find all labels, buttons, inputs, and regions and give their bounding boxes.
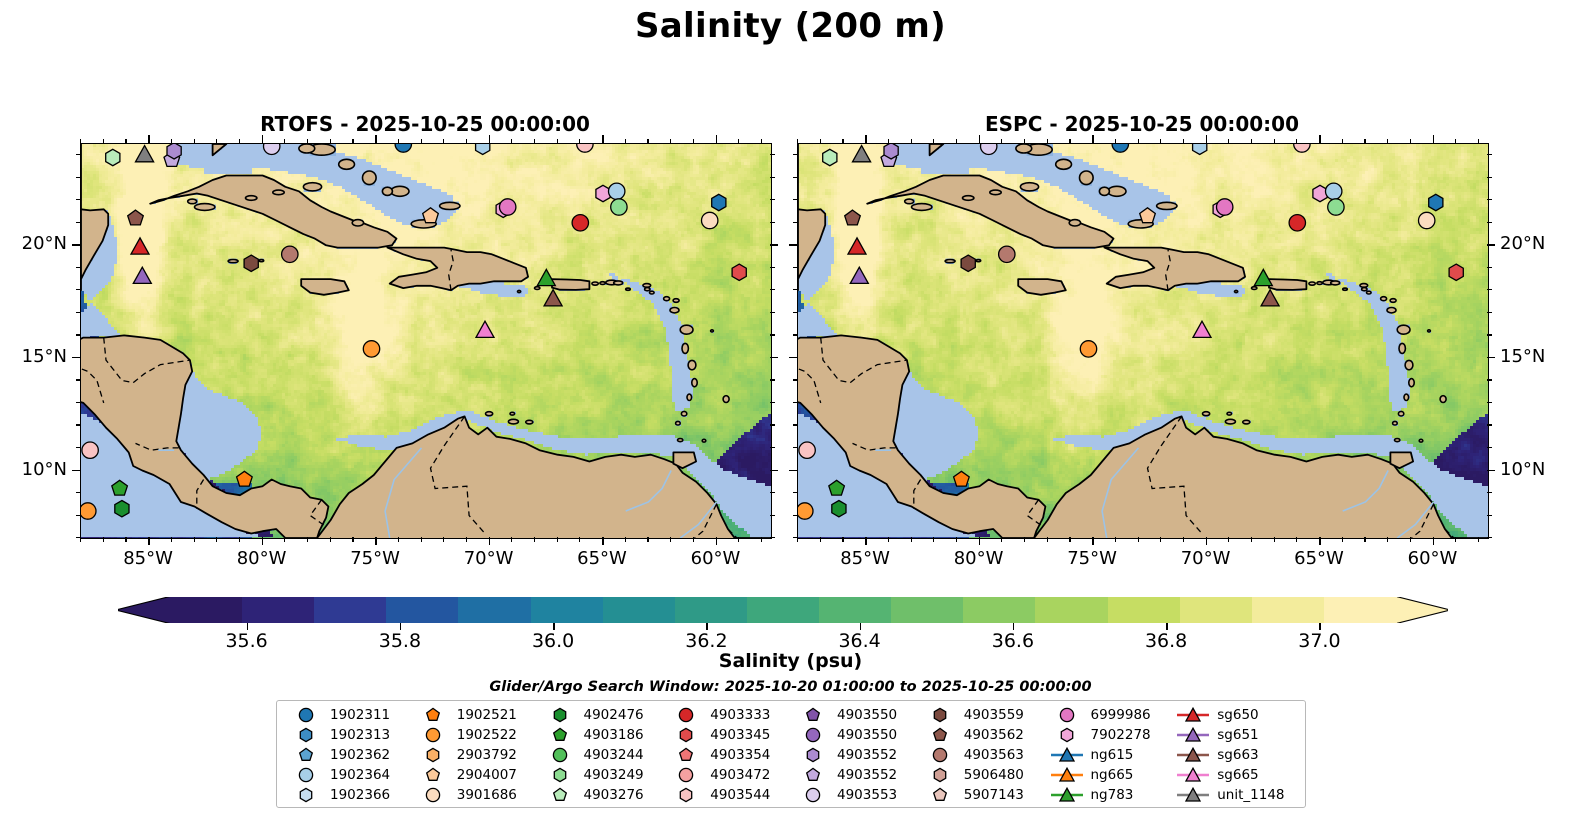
x-tick (1410, 537, 1411, 542)
colorbar-label: Salinity (psu) (0, 650, 1581, 672)
legend-marker-glider (1176, 766, 1210, 784)
y-tick-right (1487, 154, 1492, 155)
legend-item[interactable]: 4903472 (665, 766, 792, 784)
x-tick-top (1138, 139, 1139, 144)
legend-item-label: 4902476 (584, 707, 644, 723)
legend-item[interactable]: 1902364 (285, 766, 412, 784)
y-axis-label-left: 15°N (0, 347, 67, 367)
legend-item[interactable]: 1902521 (412, 706, 539, 724)
legend-item-label: 4903544 (710, 787, 770, 803)
x-tick (670, 537, 671, 542)
legend-marker-argo (543, 706, 577, 724)
x-tick (443, 537, 444, 542)
x-tick (1274, 537, 1275, 542)
legend-item[interactable]: 6999986 (1046, 706, 1173, 724)
colorbar-segment (242, 597, 315, 623)
legend-marker-argo (543, 746, 577, 764)
x-tick-top (216, 139, 217, 144)
legend-item[interactable]: unit_1148 (1172, 786, 1299, 804)
y-tick-right (1487, 492, 1492, 493)
legend-marker-argo (416, 706, 450, 724)
x-tick (194, 537, 195, 542)
x-tick-top (262, 135, 264, 143)
x-tick-top (647, 139, 648, 144)
x-tick-top (820, 139, 821, 144)
legend-marker-argo (543, 726, 577, 744)
legend-item-label: sg665 (1217, 767, 1258, 783)
legend-item[interactable]: 4903345 (665, 726, 792, 744)
legend-marker-argo (543, 786, 577, 804)
figure-canvas: Salinity (200 m) RTOFS - 2025-10-25 00:0… (0, 0, 1581, 829)
legend-item[interactable]: 4903553 (792, 786, 919, 804)
x-tick-top (625, 139, 626, 144)
legend-item[interactable]: sg651 (1172, 726, 1299, 744)
y-tick-right (1487, 334, 1492, 335)
y-tick-right (770, 447, 775, 448)
x-tick-top (693, 139, 694, 144)
legend-marker-argo (289, 746, 323, 764)
x-tick-top (1206, 135, 1208, 143)
y-tick-left (76, 379, 81, 380)
salinity-field-espc (798, 144, 1488, 538)
colorbar-segment (458, 597, 531, 623)
x-tick-top (738, 139, 739, 144)
y-tick-right (1487, 402, 1492, 403)
legend-marker-argo (796, 706, 830, 724)
y-tick-left (76, 447, 81, 448)
legend-marker-argo (923, 706, 957, 724)
y-tick-right (1487, 177, 1492, 178)
legend-item[interactable]: 4903249 (539, 766, 666, 784)
y-tick-left (789, 244, 797, 246)
y-tick-left (72, 244, 80, 246)
colorbar-tick (1319, 623, 1321, 630)
y-tick-right (770, 289, 775, 290)
legend-item[interactable]: 4903550 (792, 726, 919, 744)
y-tick-right (770, 424, 775, 425)
map-panel-espc[interactable] (797, 143, 1489, 539)
x-axis-label: 65°W (557, 548, 647, 569)
x-tick (579, 537, 580, 542)
y-tick-right (1487, 289, 1492, 290)
colorbar-tick (860, 623, 862, 630)
x-tick-top (1251, 139, 1252, 144)
legend-item-label: 1902362 (330, 747, 390, 763)
colorbar-segment (963, 597, 1036, 623)
colorbar-segment (1035, 597, 1108, 623)
colorbar-segment (819, 597, 892, 623)
colorbar-tick (553, 623, 555, 630)
x-tick-top (716, 135, 718, 143)
x-axis-label: 75°W (330, 548, 420, 569)
legend-item-label: sg663 (1217, 747, 1258, 763)
y-tick-right (1487, 515, 1492, 516)
legend-item[interactable]: ng665 (1046, 766, 1173, 784)
legend-item[interactable]: 4903552 (792, 746, 919, 764)
y-tick-left (76, 289, 81, 290)
legend-marker-argo (289, 706, 323, 724)
x-tick-top (1274, 139, 1275, 144)
y-tick-left (793, 537, 798, 538)
legend-item[interactable]: 4903559 (919, 706, 1046, 724)
x-tick-top (1001, 139, 1002, 144)
legend-marker-glider (1176, 726, 1210, 744)
x-tick-top (956, 139, 957, 144)
colorbar-segment (1180, 597, 1253, 623)
x-tick (284, 537, 285, 542)
y-tick-left (76, 334, 81, 335)
legend-marker-argo (923, 726, 957, 744)
legend-item[interactable]: 2903792 (412, 746, 539, 764)
y-tick-left (76, 222, 81, 223)
x-tick (489, 537, 491, 545)
colorbar-extend-max (1396, 597, 1448, 623)
x-tick (602, 537, 604, 545)
y-tick-left (793, 424, 798, 425)
x-axis-label: 70°W (444, 548, 534, 569)
legend-item-label: 4903354 (710, 747, 770, 763)
legend-item[interactable]: 1902522 (412, 726, 539, 744)
y-tick-left (76, 177, 81, 178)
legend-item[interactable]: 4903544 (665, 786, 792, 804)
legend-item[interactable]: ng615 (1046, 746, 1173, 764)
x-tick-top (489, 135, 491, 143)
x-tick (80, 537, 81, 542)
colorbar-segment (1324, 597, 1397, 623)
colorbar-tick-label: 36.8 (1121, 630, 1211, 652)
y-tick-right (770, 312, 775, 313)
legend-item-label: 4903563 (964, 747, 1024, 763)
x-tick (534, 537, 535, 542)
colorbar-tick-label: 37.0 (1274, 630, 1364, 652)
colorbar-segment (170, 597, 243, 623)
legend-grid: 1902311190231319023621902364190236619025… (285, 705, 1299, 805)
legend-item[interactable]: 4903552 (792, 766, 919, 784)
x-tick (1206, 537, 1208, 545)
x-tick-top (557, 139, 558, 144)
x-tick-top (307, 139, 308, 144)
map-panel-rtofs[interactable] (80, 143, 772, 539)
x-tick-top (443, 139, 444, 144)
legend-item[interactable]: ng783 (1046, 786, 1173, 804)
legend-marker-argo (669, 746, 703, 764)
legend-item[interactable]: 4903550 (792, 706, 919, 724)
y-axis-label-right: 20°N (1500, 234, 1581, 254)
legend-item-label: 4903550 (837, 727, 897, 743)
y-tick-right (1487, 244, 1495, 246)
legend-item-label: 6999986 (1091, 707, 1151, 723)
x-tick (307, 537, 308, 542)
y-tick-left (76, 424, 81, 425)
y-tick-left (793, 289, 798, 290)
y-tick-left (76, 492, 81, 493)
x-tick-top (1387, 139, 1388, 144)
y-tick-right (770, 199, 775, 200)
y-tick-right (770, 267, 775, 268)
y-tick-right (770, 515, 775, 516)
x-tick (716, 537, 718, 545)
y-tick-left (76, 402, 81, 403)
legend-marker-argo (796, 786, 830, 804)
x-tick (171, 537, 172, 542)
y-tick-right (1487, 424, 1492, 425)
legend-item-label: 7902278 (1091, 727, 1151, 743)
colorbar-tick-label: 35.6 (202, 630, 292, 652)
colorbar-segment (603, 597, 676, 623)
page-title: Salinity (200 m) (0, 6, 1581, 46)
legend-item-label: 4903553 (837, 787, 897, 803)
x-tick (1183, 537, 1184, 542)
x-tick-top (284, 139, 285, 144)
legend-item[interactable]: 1902311 (285, 706, 412, 724)
x-tick (1387, 537, 1388, 542)
legend-item-label: ng665 (1091, 767, 1134, 783)
legend-item[interactable]: 1902313 (285, 726, 412, 744)
y-tick-left (793, 334, 798, 335)
y-tick-right (770, 492, 775, 493)
colorbar-segment (1252, 597, 1325, 623)
x-tick (239, 537, 240, 542)
y-axis-label-left: 20°N (0, 234, 67, 254)
x-tick (1455, 537, 1456, 542)
x-tick-top (352, 139, 353, 144)
legend-item-label: 4903552 (837, 747, 897, 763)
y-tick-left (793, 312, 798, 313)
legend-item-label: 4903333 (710, 707, 770, 723)
legend-item-label: sg651 (1217, 727, 1258, 743)
y-axis-label-left: 10°N (0, 460, 67, 480)
x-tick-top (398, 139, 399, 144)
legend-marker-glider (1050, 746, 1084, 764)
y-tick-right (770, 470, 778, 472)
legend-item-label: 5907143 (964, 787, 1024, 803)
x-tick (330, 537, 331, 542)
legend-marker-argo (796, 746, 830, 764)
y-tick-right (1487, 267, 1492, 268)
x-tick (1047, 537, 1048, 542)
y-tick-right (770, 222, 775, 223)
x-tick-top (421, 139, 422, 144)
y-tick-left (789, 357, 797, 359)
legend-item-label: 1902366 (330, 787, 390, 803)
x-tick-top (911, 139, 912, 144)
colorbar-tick (1166, 623, 1168, 630)
y-tick-left (72, 470, 80, 472)
salinity-field-rtofs (81, 144, 771, 538)
legend-item-label: 1902521 (457, 707, 517, 723)
y-tick-left (793, 492, 798, 493)
x-tick-top (1410, 139, 1411, 144)
y-tick-left (793, 177, 798, 178)
x-tick-top (1069, 139, 1070, 144)
legend-item[interactable]: sg650 (1172, 706, 1299, 724)
x-tick (842, 537, 843, 542)
x-tick (1228, 537, 1229, 542)
legend-item[interactable]: 1902362 (285, 746, 412, 764)
x-tick-top (103, 139, 104, 144)
x-tick (820, 537, 821, 542)
x-tick-top (1478, 139, 1479, 144)
legend-item-label: 4903472 (710, 767, 770, 783)
y-tick-right (1487, 222, 1492, 223)
x-tick-top (1092, 135, 1094, 143)
x-tick (979, 537, 981, 545)
map-canvas-espc (798, 144, 1488, 538)
legend-marker-argo (416, 766, 450, 784)
y-tick-right (770, 537, 775, 538)
x-tick-top (865, 135, 867, 143)
legend-item[interactable]: sg663 (1172, 746, 1299, 764)
legend-marker-argo (796, 766, 830, 784)
x-tick (557, 537, 558, 542)
legend-item[interactable]: 1902366 (285, 786, 412, 804)
legend-marker-argo (669, 706, 703, 724)
y-tick-right (770, 334, 775, 335)
y-tick-right (1487, 357, 1495, 359)
legend-item-label: ng783 (1091, 787, 1134, 803)
x-tick (375, 537, 377, 545)
legend-item[interactable]: 4903354 (665, 746, 792, 764)
colorbar-tick (400, 623, 402, 630)
x-tick (888, 537, 889, 542)
x-tick (466, 537, 467, 542)
y-tick-right (1487, 537, 1492, 538)
x-tick-top (1228, 139, 1229, 144)
colorbar-tick (706, 623, 708, 630)
x-tick (1069, 537, 1070, 542)
legend-search-window-text: Glider/Argo Search Window: 2025-10-20 01… (0, 679, 1581, 695)
legend-marker-glider (1050, 786, 1084, 804)
y-tick-left (793, 222, 798, 223)
x-tick-top (1296, 139, 1297, 144)
x-axis-label: 85°W (820, 548, 910, 569)
legend-item[interactable]: 4902476 (539, 706, 666, 724)
y-tick-right (770, 357, 778, 359)
legend-item[interactable]: 5906480 (919, 766, 1046, 784)
legend-item[interactable]: 4903244 (539, 746, 666, 764)
x-tick-top (125, 139, 126, 144)
legend-marker-glider (1176, 706, 1210, 724)
legend-marker-argo (669, 766, 703, 784)
colorbar-tick-label: 36.4 (815, 630, 905, 652)
x-tick-top (534, 139, 535, 144)
legend-item-label: 2903792 (457, 747, 517, 763)
legend-item-label: 4903345 (710, 727, 770, 743)
y-tick-left (76, 537, 81, 538)
legend-marker-argo (923, 746, 957, 764)
x-tick-top (1319, 135, 1321, 143)
legend-item[interactable]: 7902278 (1046, 726, 1173, 744)
x-tick (103, 537, 104, 542)
y-tick-left (793, 154, 798, 155)
y-tick-left (789, 470, 797, 472)
legend-item[interactable]: sg665 (1172, 766, 1299, 784)
x-tick (865, 537, 867, 545)
x-tick (1364, 537, 1365, 542)
legend-item-label: 4903550 (837, 707, 897, 723)
x-tick-top (1047, 139, 1048, 144)
legend-item[interactable]: 2904007 (412, 766, 539, 784)
legend-marker-argo (289, 726, 323, 744)
legend-item[interactable]: 4903562 (919, 726, 1046, 744)
x-axis-label: 80°W (217, 548, 307, 569)
legend-item[interactable]: 3901686 (412, 786, 539, 804)
x-tick-top (171, 139, 172, 144)
x-axis-label: 85°W (103, 548, 193, 569)
x-tick-top (1364, 139, 1365, 144)
map-canvas-rtofs (81, 144, 771, 538)
legend-item-label: 4903186 (584, 727, 644, 743)
x-axis-label: 65°W (1274, 548, 1364, 569)
x-tick-top (466, 139, 467, 144)
legend-item-label: ng615 (1091, 747, 1134, 763)
x-tick-top (1183, 139, 1184, 144)
x-tick (511, 537, 512, 542)
x-tick-top (375, 135, 377, 143)
x-tick (933, 537, 934, 542)
legend-item-label: 4903276 (584, 787, 644, 803)
x-tick-top (80, 139, 81, 144)
y-tick-left (76, 312, 81, 313)
legend-item-label: sg650 (1217, 707, 1258, 723)
y-tick-right (1487, 379, 1492, 380)
x-tick-top (797, 139, 798, 144)
x-tick (625, 537, 626, 542)
x-tick (262, 537, 264, 545)
x-tick (1160, 537, 1161, 542)
legend-item[interactable]: 4903563 (919, 746, 1046, 764)
legend-item[interactable]: 4903333 (665, 706, 792, 724)
legend-marker-argo (289, 786, 323, 804)
legend-marker-argo (923, 786, 957, 804)
x-axis-label: 75°W (1047, 548, 1137, 569)
x-tick (1024, 537, 1025, 542)
legend-item[interactable]: 4903186 (539, 726, 666, 744)
x-tick (797, 537, 798, 542)
colorbar-segment (314, 597, 387, 623)
y-tick-left (793, 515, 798, 516)
legend-marker-argo (669, 786, 703, 804)
colorbar-segment (747, 597, 820, 623)
legend-marker-glider (1050, 766, 1084, 784)
x-tick-top (239, 139, 240, 144)
x-axis-label: 60°W (671, 548, 761, 569)
colorbar-extend-min (118, 597, 170, 623)
legend-item[interactable]: 4903276 (539, 786, 666, 804)
legend-marker-argo (1050, 706, 1084, 724)
colorbar[interactable]: 35.635.836.036.236.436.636.837.0 (118, 597, 1448, 623)
x-axis-label: 60°W (1388, 548, 1478, 569)
legend-item[interactable]: 5907143 (919, 786, 1046, 804)
legend-box[interactable]: 1902311190231319023621902364190236619025… (276, 700, 1306, 808)
x-tick (738, 537, 739, 542)
x-tick-top (602, 135, 604, 143)
colorbar-tick-label: 36.2 (661, 630, 751, 652)
x-tick-top (1455, 139, 1456, 144)
colorbar-tick (1013, 623, 1015, 630)
colorbar-segment (675, 597, 748, 623)
y-tick-left (72, 357, 80, 359)
legend-item-label: 1902364 (330, 767, 390, 783)
y-tick-right (770, 177, 775, 178)
x-tick (1001, 537, 1002, 542)
y-tick-right (1487, 470, 1495, 472)
x-tick-top (888, 139, 889, 144)
legend-item-label: 3901686 (457, 787, 517, 803)
x-tick-top (670, 139, 671, 144)
y-axis-label-right: 10°N (1500, 460, 1581, 480)
x-tick (1138, 537, 1139, 542)
